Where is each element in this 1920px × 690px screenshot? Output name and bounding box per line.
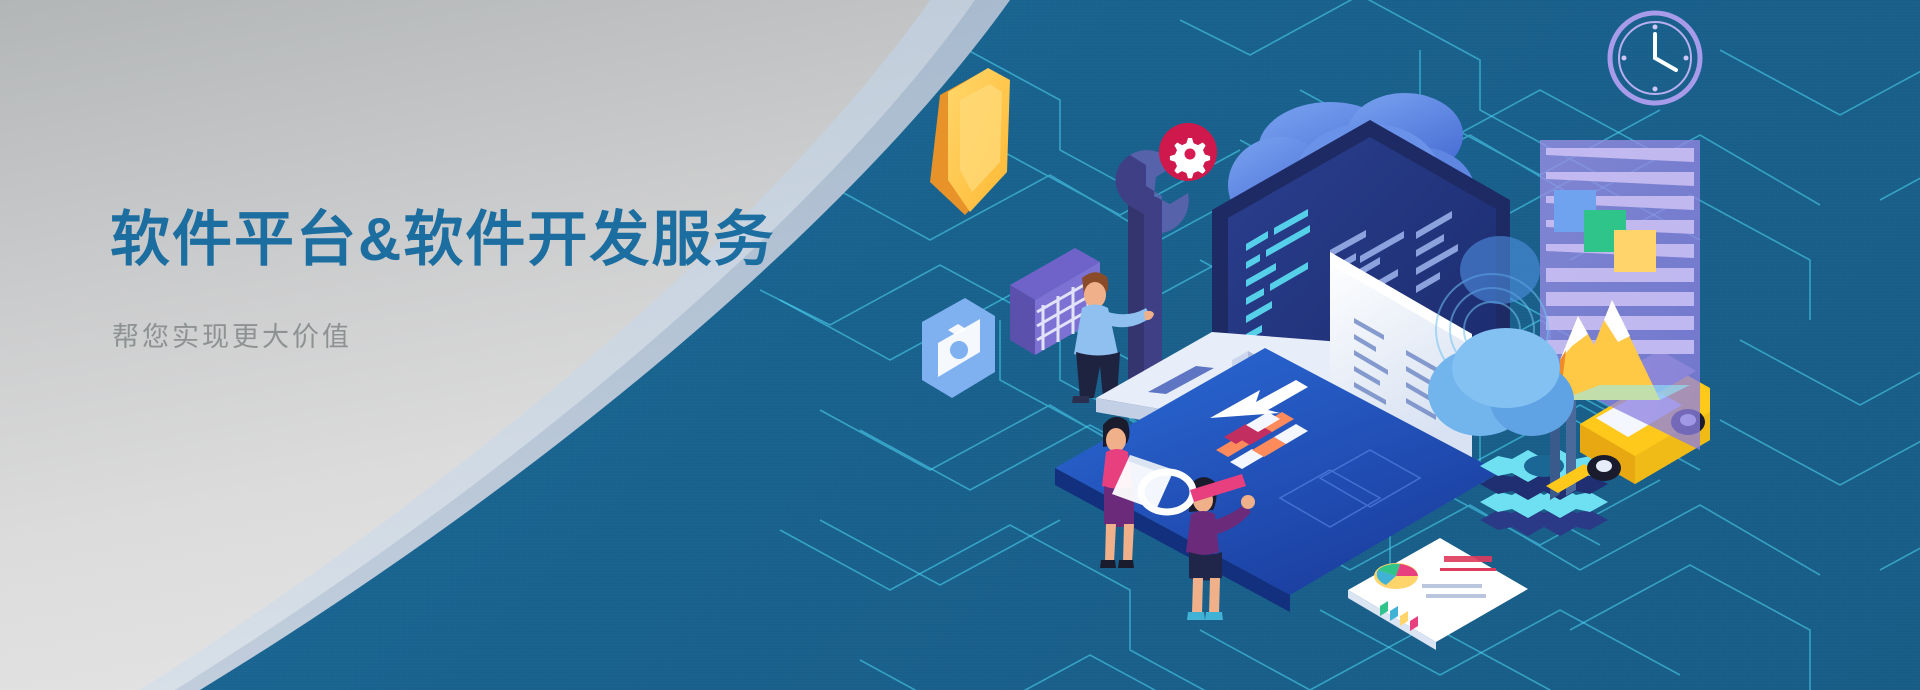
camera-icon [922,298,995,398]
news-pie-chart [1374,563,1418,589]
shield-icon [930,68,1010,215]
hero-illustration [860,0,1920,690]
clock-icon [1610,13,1700,103]
page-title: 软件平台&软件开发服务 [110,205,830,275]
hero-banner: 软件平台&软件开发服务 帮您实现更大价值 [0,0,1920,690]
news-document [1348,538,1528,650]
page-subtitle: 帮您实现更大价值 [112,320,830,355]
gear-badge-icon [1159,123,1217,181]
hero-text-block: 软件平台&软件开发服务 帮您实现更大价值 [110,205,830,355]
